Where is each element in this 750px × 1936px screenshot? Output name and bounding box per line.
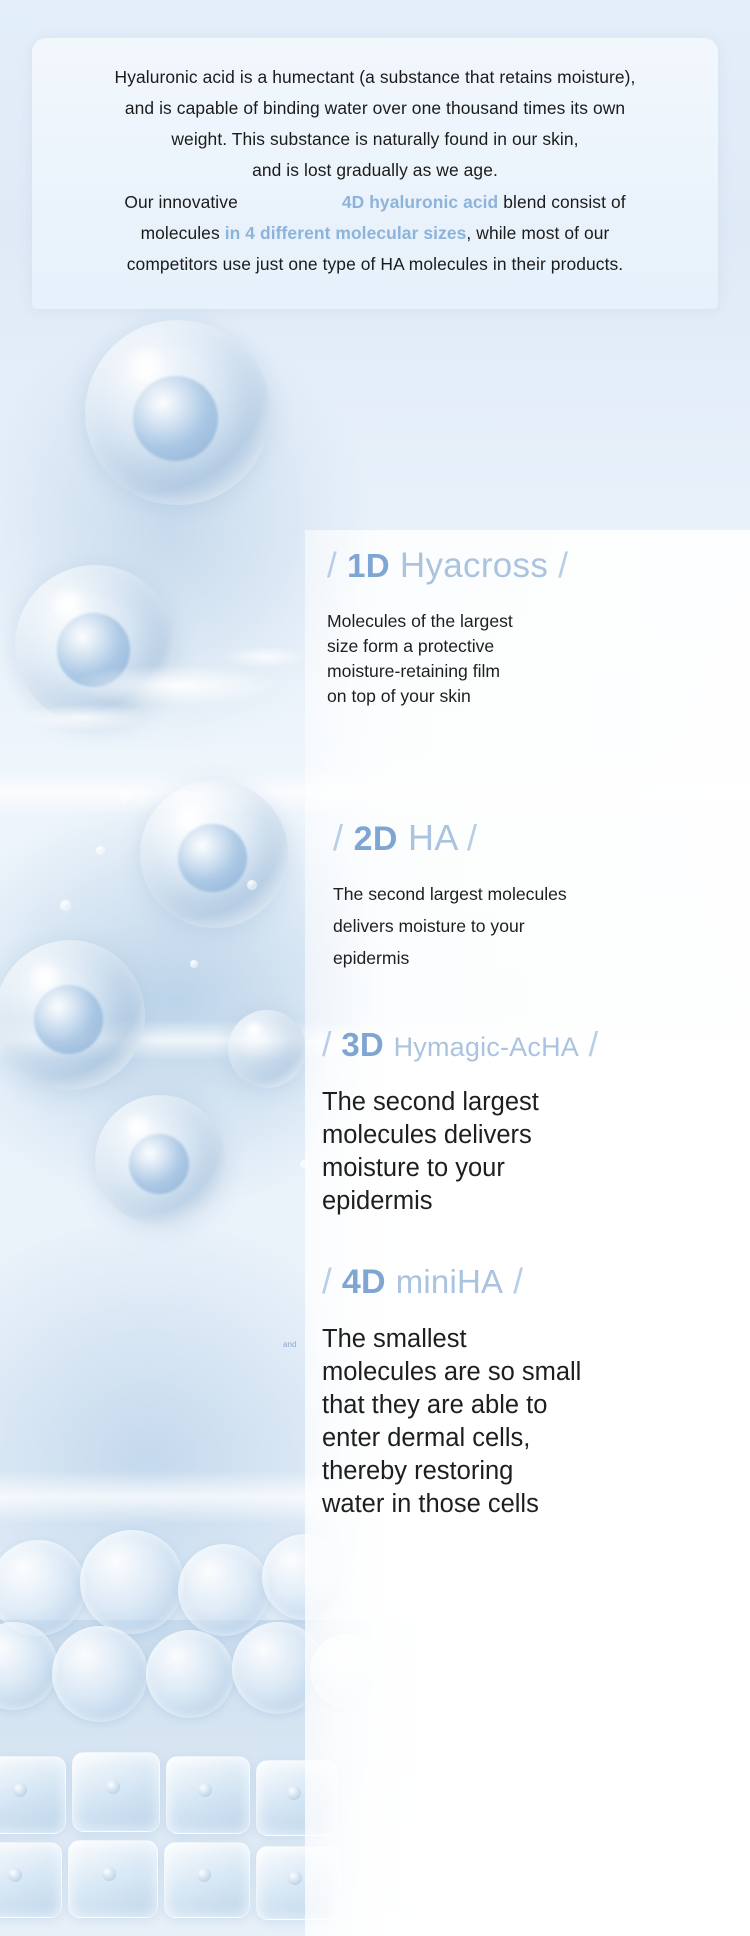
slash-right-icon: / [589, 1026, 599, 1064]
bubble-small-2 [96, 846, 105, 855]
slash-right-icon: / [467, 817, 477, 858]
infographic-stage: Hyaluronic acid is a humectant (a substa… [0, 0, 750, 1936]
section-4d-heading: / 4D miniHA / [322, 1264, 581, 1299]
intro-highlight-4d: 4D hyaluronic acid [342, 192, 498, 212]
intro-card: Hyaluronic acid is a humectant (a substa… [32, 38, 718, 309]
bubble-large-1 [85, 320, 270, 505]
section-2d-name: HA [408, 817, 457, 858]
bubble-large-5 [95, 1095, 225, 1225]
intro-line-2: and is capable of binding water over one… [58, 93, 692, 124]
slash-left-icon: / [333, 817, 343, 858]
slash-right-icon: / [558, 546, 568, 585]
intro-line-1: Hyaluronic acid is a humectant (a substa… [58, 62, 692, 93]
bubble-medium-1 [228, 1010, 306, 1088]
intro-line-5-post: blend consist of [503, 192, 625, 212]
section-1d-heading: / 1D Hyacross / [327, 548, 568, 583]
intro-line-6: molecules in 4 different molecular sizes… [58, 218, 692, 249]
slash-left-icon: / [322, 1262, 332, 1301]
intro-highlight-sizes: in 4 different molecular sizes [225, 223, 467, 243]
water-splash [0, 600, 340, 790]
intro-line-4: and is lost gradually as we age. [58, 155, 692, 186]
bubble-large-4 [0, 940, 145, 1090]
slash-left-icon: / [327, 546, 337, 585]
bubble-small-1 [120, 790, 134, 804]
intro-line-5: Our innovative4D hyaluronic acid blend c… [58, 187, 692, 218]
intro-line-7: competitors use just one type of HA mole… [58, 249, 692, 280]
section-3d-dimension: 3D [341, 1026, 384, 1063]
section-2d-heading: / 2D HA / [333, 820, 567, 856]
section-1d-description: Molecules of the largest size form a pro… [327, 609, 568, 709]
section-4d-description: The smallest molecules are so small that… [322, 1323, 581, 1521]
slash-left-icon: / [322, 1026, 332, 1064]
section-1d-dimension: 1D [347, 547, 390, 584]
section-3d-heading: / 3D Hymagic-AcHA / [322, 1028, 598, 1062]
bubble-small-5 [247, 880, 257, 890]
section-1d-name: Hyacross [400, 546, 548, 585]
section-3d: / 3D Hymagic-AcHA / The second largest m… [322, 1028, 598, 1218]
section-4d: / 4D miniHA / The smallest molecules are… [322, 1264, 581, 1521]
intro-line-6-pre: molecules [141, 223, 220, 243]
section-3d-description: The second largest molecules delivers mo… [322, 1086, 598, 1218]
watermark-text: and [283, 1340, 296, 1349]
intro-line-6-post: , while most of our [466, 223, 609, 243]
section-3d-name: Hymagic-AcHA [394, 1032, 579, 1062]
bubble-small-4 [190, 960, 198, 968]
section-2d-dimension: 2D [354, 820, 398, 858]
bubble-small-3 [60, 900, 71, 911]
bubble-large-3 [140, 780, 288, 928]
slash-right-icon: / [513, 1262, 523, 1301]
section-1d: / 1D Hyacross / Molecules of the largest… [327, 548, 568, 709]
intro-line-3: weight. This substance is naturally foun… [58, 124, 692, 155]
section-4d-dimension: 4D [342, 1263, 386, 1301]
section-4d-name: miniHA [396, 1263, 504, 1300]
section-2d-description: The second largest molecules delivers mo… [333, 878, 567, 974]
intro-line-5-pre: Our innovative [124, 192, 238, 212]
section-2d: / 2D HA / The second largest molecules d… [333, 820, 567, 974]
